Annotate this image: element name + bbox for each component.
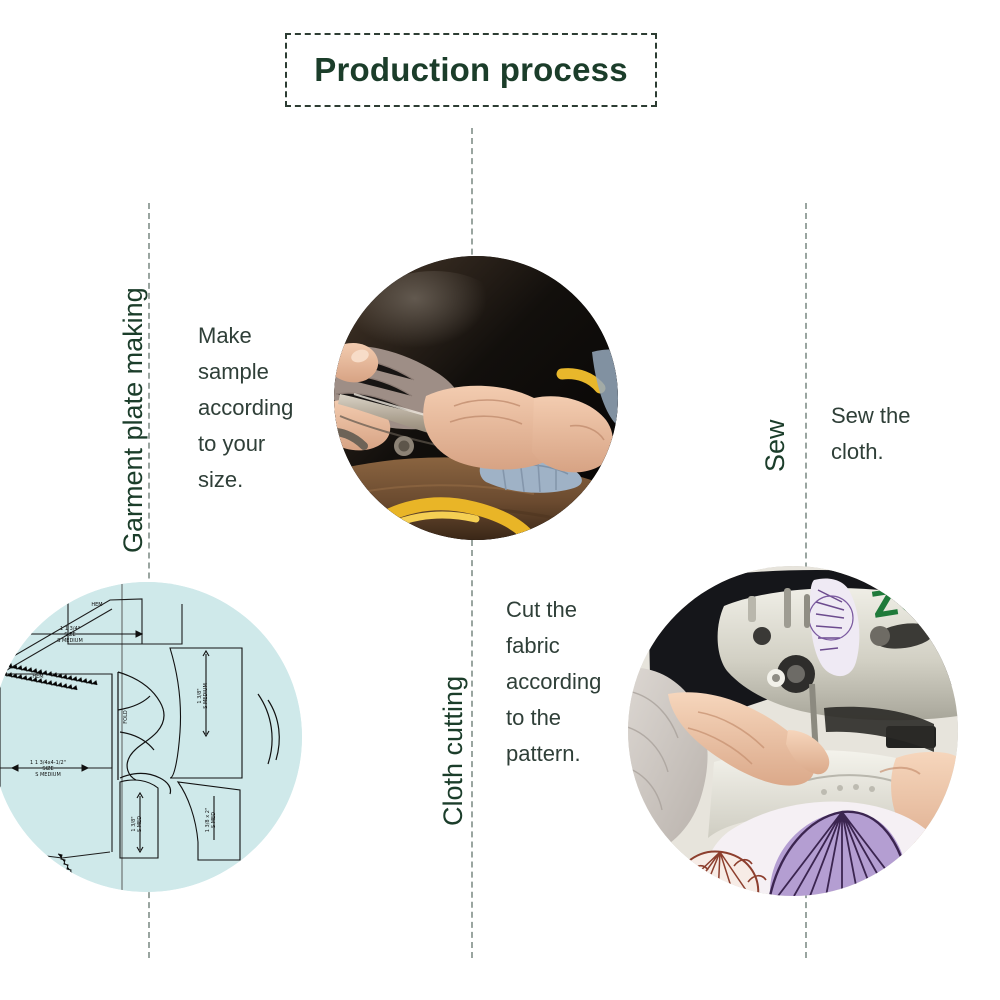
svg-text:S MEDIUM: S MEDIUM xyxy=(35,772,61,778)
svg-text:ZOJE: ZOJE xyxy=(869,572,958,627)
page-title: Production process xyxy=(314,51,628,89)
pattern-drafting-illustration: 1 1 3/4" SIZE S MEDIUM 1 1 3/4x4-1/2" SI… xyxy=(0,582,302,892)
divider-middle xyxy=(471,128,473,958)
stage-label-garment-plate-making: Garment plate making xyxy=(118,287,149,553)
fabric-cutting-photo xyxy=(334,256,618,540)
sewing-machine-photo: ZOJE xyxy=(628,566,958,896)
stage-label-sew: Sew xyxy=(760,419,791,472)
svg-text:FOLD: FOLD xyxy=(123,710,129,724)
stage-label-cloth-cutting: Cloth cutting xyxy=(438,676,469,826)
svg-text:HEM: HEM xyxy=(32,674,43,680)
stage-description-garment-plate-making: Make sample according to your size. xyxy=(198,318,316,498)
svg-text:S MEDIUM: S MEDIUM xyxy=(203,683,209,709)
stage-description-cloth-cutting: Cut the fabric according to the pattern. xyxy=(506,592,624,772)
svg-text:S MED: S MED xyxy=(137,816,143,832)
page-title-box: Production process xyxy=(285,33,657,107)
svg-text:HEM: HEM xyxy=(91,602,102,608)
stage-description-sew: Sew the cloth. xyxy=(831,398,956,470)
svg-text:S MEDIUM: S MEDIUM xyxy=(57,638,83,644)
svg-text:S MED: S MED xyxy=(211,812,217,828)
production-process-infographic: Production process Garment plate making … xyxy=(0,0,1000,1000)
